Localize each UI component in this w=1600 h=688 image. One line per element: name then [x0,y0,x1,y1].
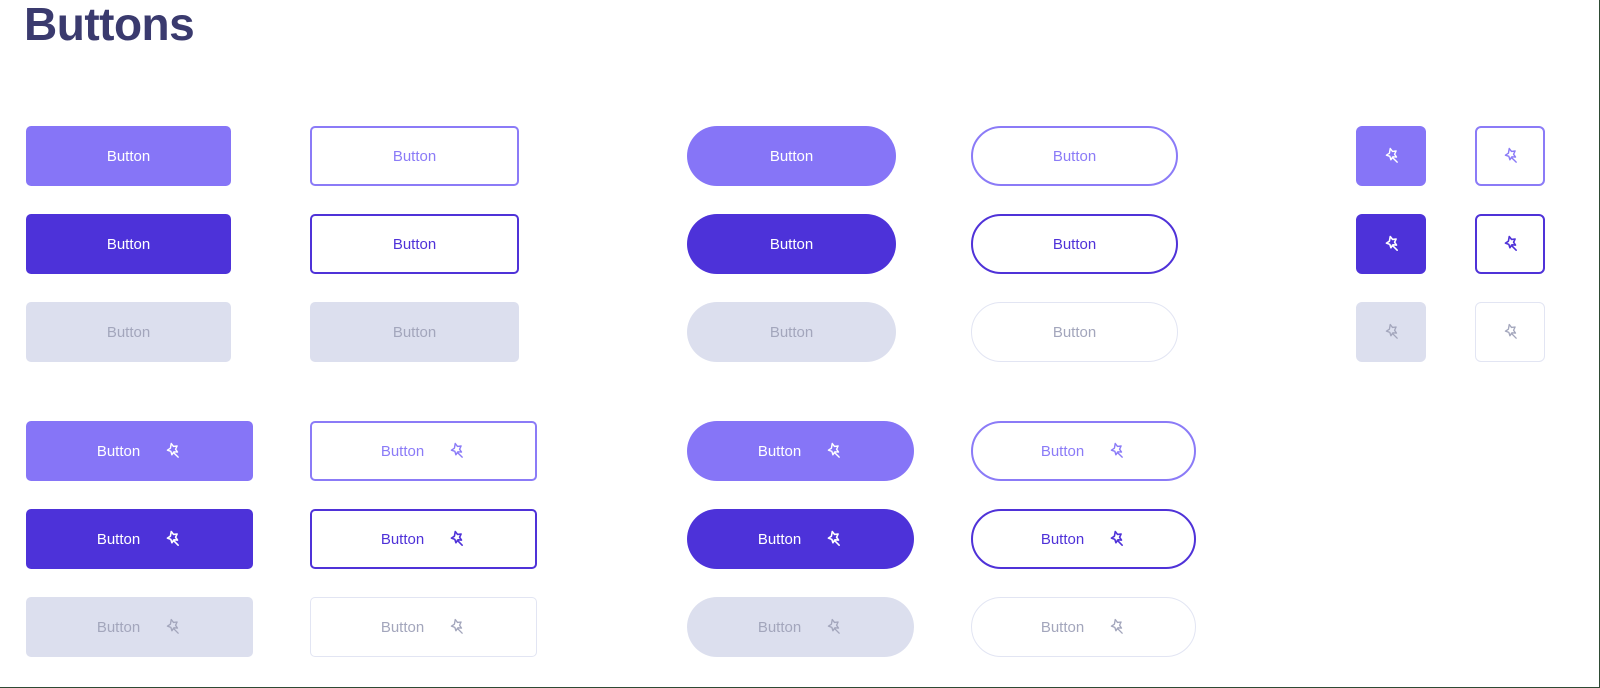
magic-wand-star-icon [1500,234,1520,254]
magic-wand-star-icon [1500,322,1520,342]
button-label: Button [393,324,436,341]
button-label: Button [758,443,801,460]
button-pill-outlined-disabled: Button [971,302,1178,362]
magic-wand-star-icon [162,441,182,461]
magic-wand-star-icon [823,529,843,549]
button-row-default: Button Button Button [0,413,1600,501]
magic-wand-star-icon [1381,146,1401,166]
button-rect-filled-active[interactable]: Button [26,214,231,274]
button-icon-pill-outlined-default[interactable]: Button [971,421,1196,481]
button-icon-only-filled-disabled [1356,302,1426,362]
button-icon-rect-outlined-active[interactable]: Button [310,509,537,569]
magic-wand-star-icon [823,617,843,637]
button-icon-only-filled-active[interactable] [1356,214,1426,274]
button-label: Button [107,148,150,165]
button-icon-rect-filled-default[interactable]: Button [26,421,253,481]
magic-wand-star-icon [1106,617,1126,637]
button-icon-only-filled-default[interactable] [1356,126,1426,186]
magic-wand-star-icon [1106,529,1126,549]
magic-wand-star-icon [823,441,843,461]
button-icon-rect-outlined-default[interactable]: Button [310,421,537,481]
magic-wand-star-icon [162,529,182,549]
button-pill-filled-active[interactable]: Button [687,214,896,274]
button-label: Button [381,619,424,636]
magic-wand-star-icon [446,617,466,637]
magic-wand-star-icon [1381,322,1401,342]
button-row-disabled: Button Button Button Button [0,294,1600,382]
button-label: Button [107,324,150,341]
button-pill-filled-default[interactable]: Button [687,126,896,186]
magic-wand-star-icon [1500,146,1520,166]
button-pill-outlined-active[interactable]: Button [971,214,1178,274]
button-icon-rect-outlined-disabled: Button [310,597,537,657]
magic-wand-star-icon [446,529,466,549]
button-icon-only-outlined-active[interactable] [1475,214,1545,274]
button-pill-outlined-default[interactable]: Button [971,126,1178,186]
button-label: Button [1053,324,1096,341]
button-rect-outlined-disabled: Button [310,302,519,362]
button-icon-only-outlined-default[interactable] [1475,126,1545,186]
button-label: Button [381,443,424,460]
button-icon-only-outlined-disabled [1475,302,1545,362]
button-label: Button [1053,148,1096,165]
button-rect-outlined-default[interactable]: Button [310,126,519,186]
button-label: Button [1041,531,1084,548]
text-only-buttons-group: Button Button Button Button [0,118,1600,382]
button-label: Button [393,148,436,165]
button-label: Button [1041,619,1084,636]
button-rect-filled-default[interactable]: Button [26,126,231,186]
button-label: Button [770,148,813,165]
button-label: Button [97,443,140,460]
button-icon-rect-filled-active[interactable]: Button [26,509,253,569]
button-label: Button [97,619,140,636]
button-label: Button [107,236,150,253]
magic-wand-star-icon [1106,441,1126,461]
page-title: Buttons [24,0,194,54]
button-row-disabled: Button Button Button [0,589,1600,677]
button-label: Button [393,236,436,253]
button-label: Button [758,531,801,548]
button-icon-pill-filled-active[interactable]: Button [687,509,914,569]
button-icon-pill-filled-default[interactable]: Button [687,421,914,481]
button-icon-rect-filled-disabled: Button [26,597,253,657]
button-label: Button [770,236,813,253]
button-icon-pill-outlined-active[interactable]: Button [971,509,1196,569]
button-label: Button [97,531,140,548]
button-label: Button [1041,443,1084,460]
magic-wand-star-icon [1381,234,1401,254]
button-pill-filled-disabled: Button [687,302,896,362]
button-rect-outlined-active[interactable]: Button [310,214,519,274]
button-row-active: Button Button Button Button [0,206,1600,294]
button-label: Button [381,531,424,548]
button-icon-pill-outlined-disabled: Button [971,597,1196,657]
button-row-default: Button Button Button Button [0,118,1600,206]
button-icon-pill-filled-disabled: Button [687,597,914,657]
text-with-icon-buttons-group: Button Button Button [0,413,1600,677]
magic-wand-star-icon [446,441,466,461]
magic-wand-star-icon [162,617,182,637]
button-row-active: Button Button Button [0,501,1600,589]
button-label: Button [758,619,801,636]
button-label: Button [770,324,813,341]
button-rect-filled-disabled: Button [26,302,231,362]
button-label: Button [1053,236,1096,253]
